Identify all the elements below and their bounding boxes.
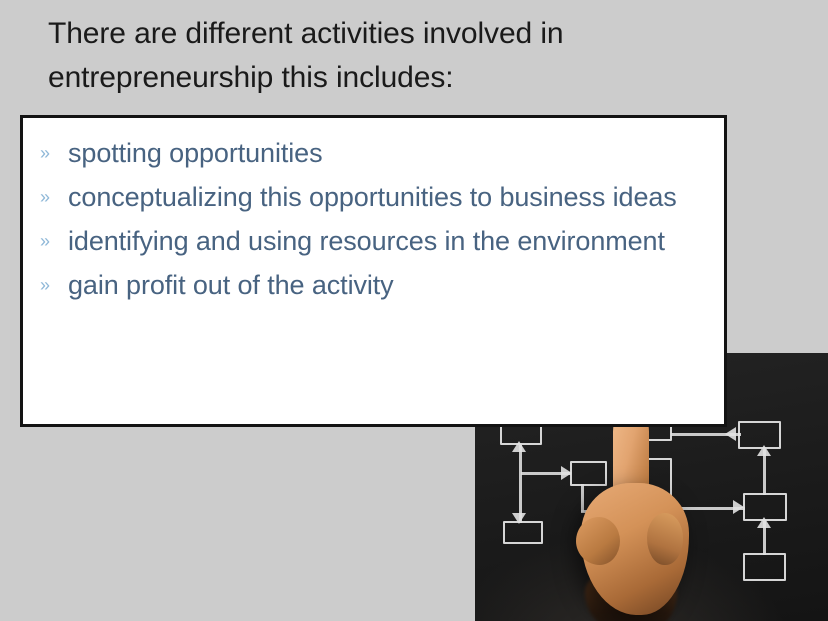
chalk-arrowhead-left-top <box>725 427 736 441</box>
list-item[interactable]: » spotting opportunities <box>36 133 718 174</box>
chalk-arrowhead-right-lower <box>733 500 744 514</box>
hand-knuckle-right <box>647 513 683 565</box>
list-item[interactable]: » conceptualizing this opportunities to … <box>36 177 718 218</box>
list-item[interactable]: » identifying and using resources in the… <box>36 221 718 262</box>
list-item-label: identifying and using resources in the e… <box>68 221 718 262</box>
list-item[interactable]: » gain profit out of the activity <box>36 265 718 306</box>
list-item-label: spotting opportunities <box>68 133 718 174</box>
chalk-arrowhead-down-left <box>512 513 526 524</box>
bullet-list: » spotting opportunities » conceptualizi… <box>36 133 718 309</box>
slide-title: There are different activities involved … <box>48 12 708 100</box>
list-item-label: gain profit out of the activity <box>68 265 718 306</box>
chalk-connector-left-vertical <box>519 445 522 523</box>
chalk-box-bottom-left <box>503 521 543 544</box>
bullet-marker-icon: » <box>36 133 68 174</box>
pointing-hand <box>573 405 708 620</box>
chalk-arrowhead-up-left <box>512 441 526 452</box>
presentation-slide: There are different activities involved … <box>0 0 828 621</box>
list-item-label: conceptualizing this opportunities to bu… <box>68 177 718 218</box>
bullet-marker-icon: » <box>36 265 68 306</box>
chalk-arrowhead-up-right-top <box>757 445 771 456</box>
chalk-arrowhead-up-right-mid <box>757 517 771 528</box>
hand-knuckle-left <box>576 517 620 565</box>
bullet-marker-icon: » <box>36 177 68 218</box>
chalk-arrowhead-right-mid <box>561 466 572 480</box>
bullet-marker-icon: » <box>36 221 68 262</box>
content-card: » spotting opportunities » conceptualizi… <box>20 115 727 427</box>
chalk-box-bottom-right <box>743 553 786 581</box>
